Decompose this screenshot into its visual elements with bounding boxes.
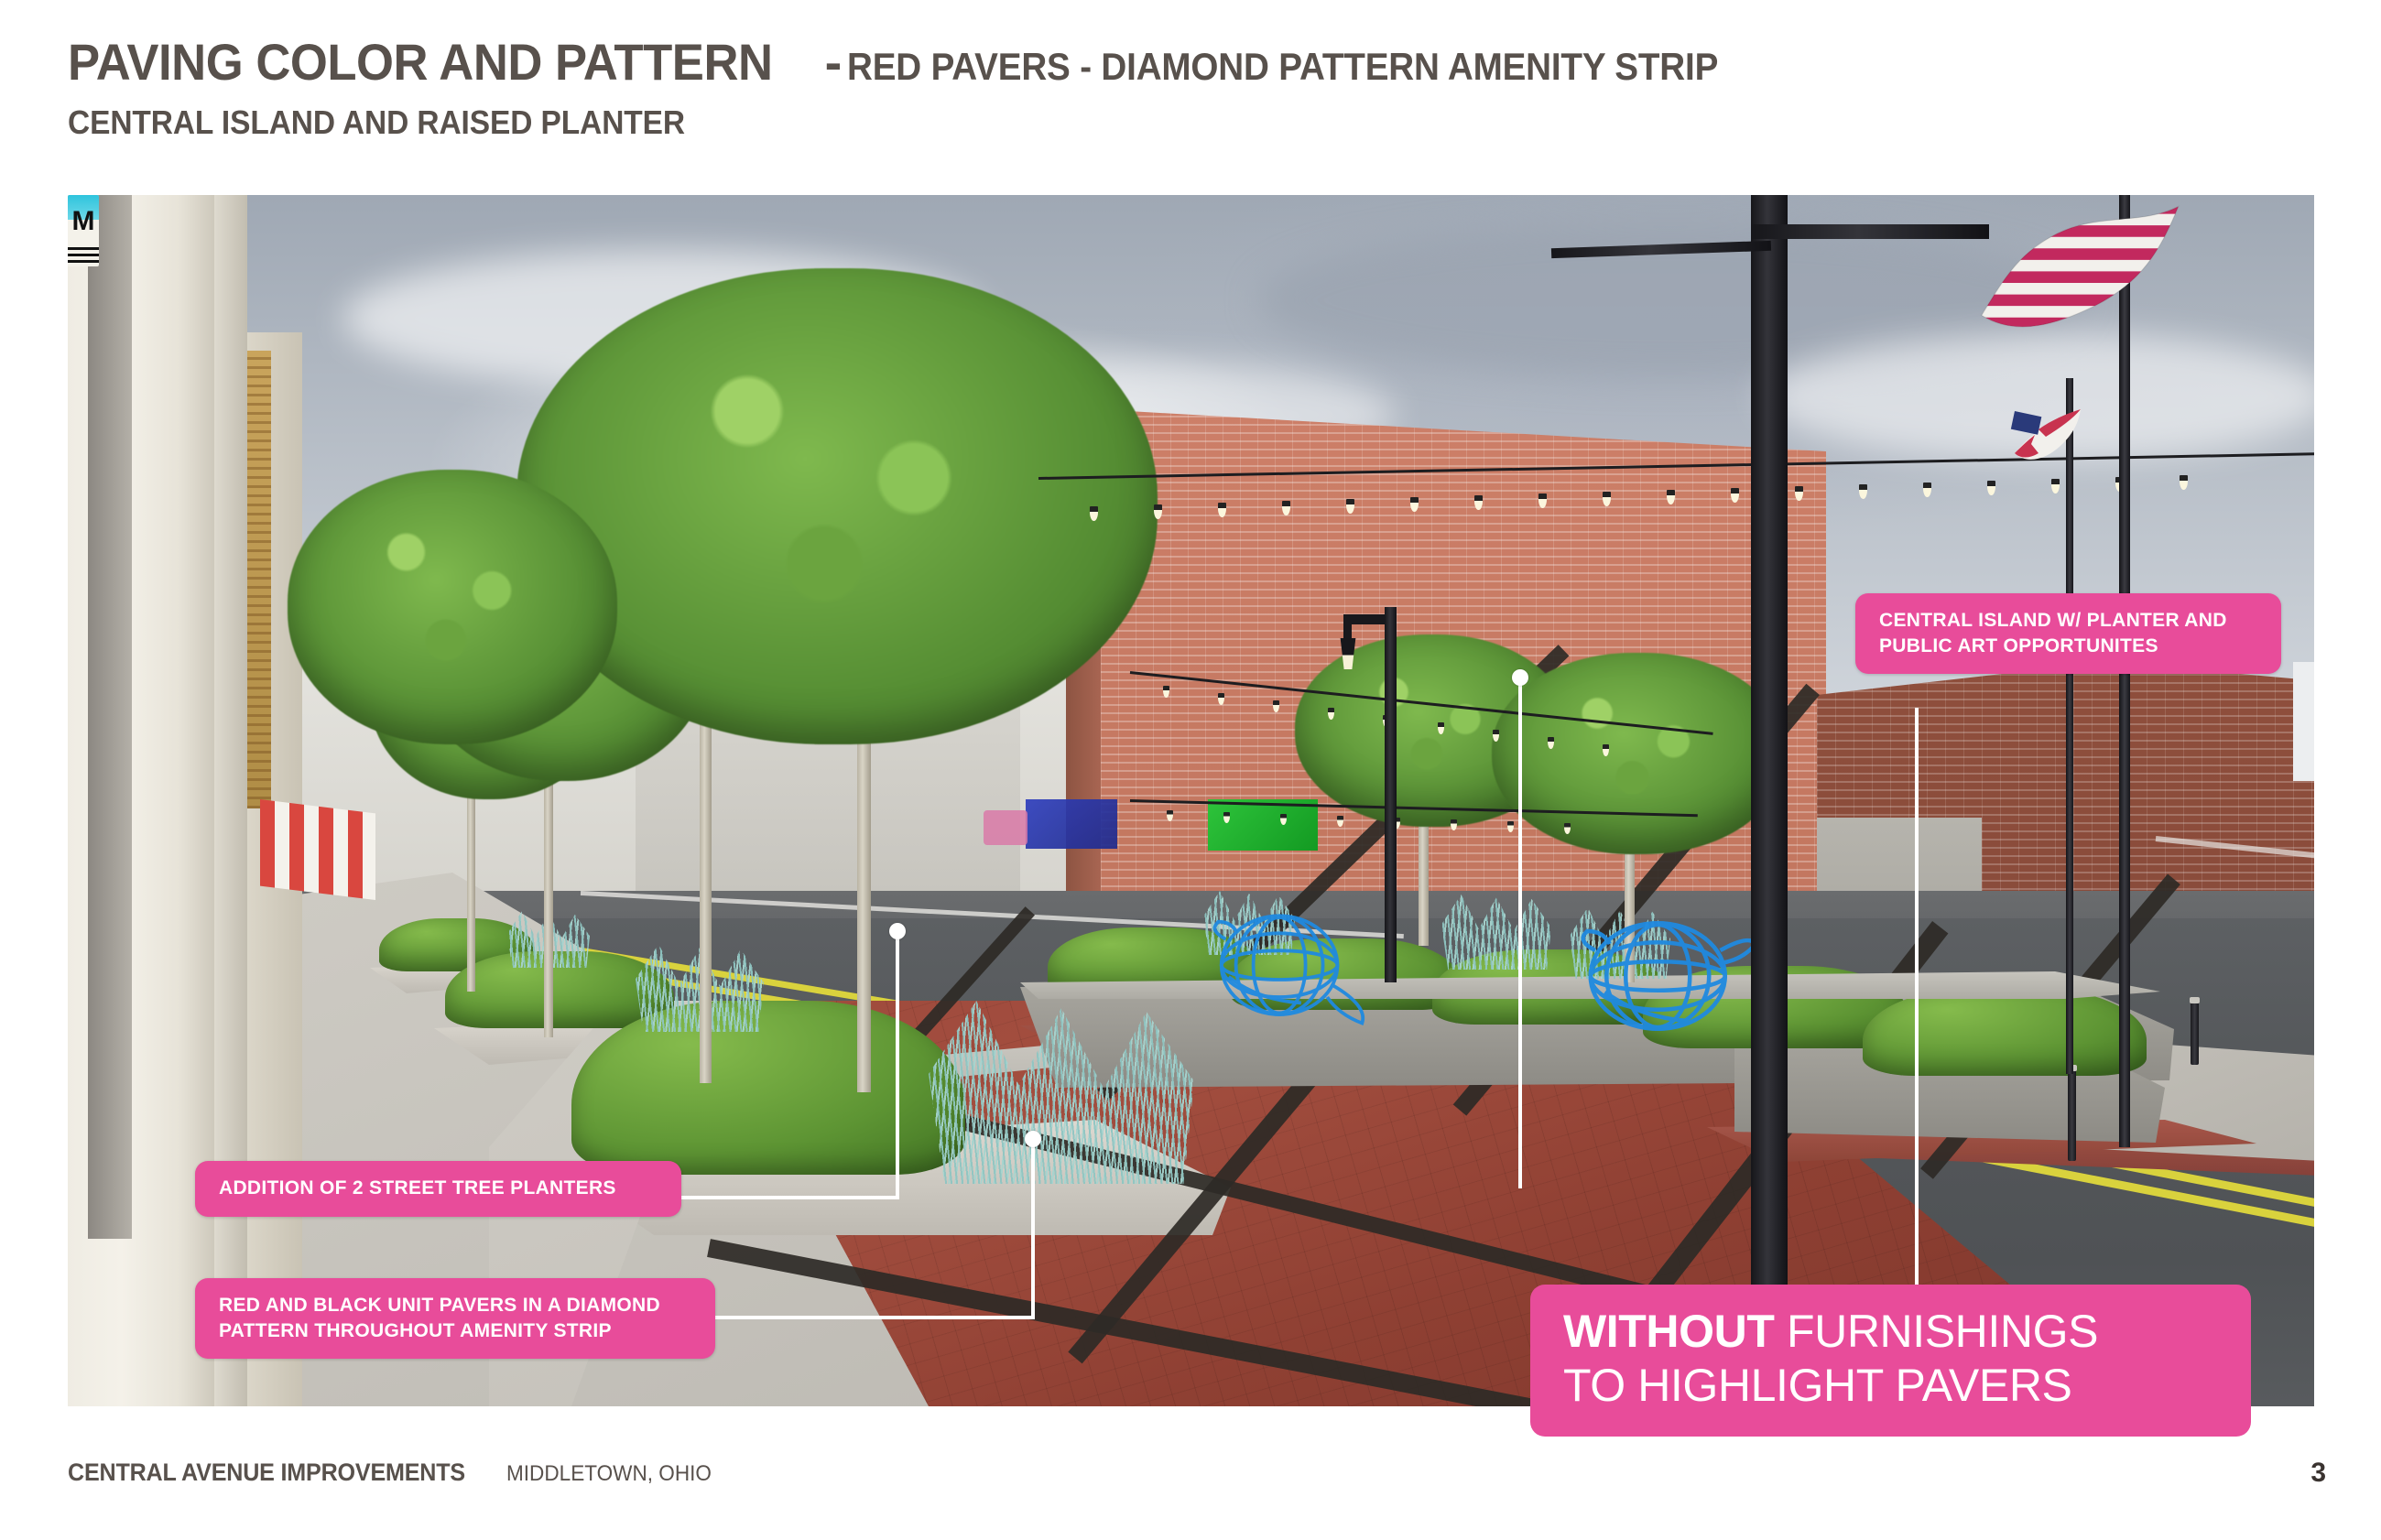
bollard (2191, 1001, 2199, 1065)
left-brick-detail (247, 351, 271, 808)
banner-line-1: WITHOUT FURNISHINGS (1563, 1305, 2218, 1359)
title-separator: - (825, 37, 843, 88)
foreground-light-pole (1751, 195, 1788, 1406)
street-lamp-pole (1385, 607, 1397, 982)
callout-street-tree-planters[interactable]: ADDITION OF 2 STREET TREE PLANTERS (195, 1161, 681, 1217)
leader-line-tree-planter-v (896, 927, 899, 1199)
bollard-cap (2190, 997, 2200, 1003)
banner-line-1-rest: FURNISHINGS (1774, 1306, 2098, 1357)
page-title: PAVING COLOR AND PATTERN (68, 37, 773, 88)
american-flag-large (1973, 202, 2183, 349)
ornamental-grass (929, 1001, 1194, 1184)
street-lamp-arm-drop (1343, 614, 1352, 642)
tree-canopy (288, 470, 617, 744)
page-number: 3 (2310, 1458, 2326, 1489)
leader-dot-island-planter (1512, 669, 1528, 686)
leader-dot-tree-planter (889, 923, 906, 939)
slide-header: PAVING COLOR AND PATTERN - RED PAVERS - … (68, 37, 2311, 142)
rendering-image: M (68, 195, 2314, 1406)
slide-canvas: PAVING COLOR AND PATTERN - RED PAVERS - … (0, 0, 2381, 1540)
tree-canopy (516, 268, 1158, 744)
tree-canopy (1492, 653, 1785, 854)
footer-project-name: CENTRAL AVENUE IMPROVEMENTS (68, 1459, 465, 1487)
bird-sculpture (1570, 893, 1762, 1053)
flag-pole-small (2066, 378, 2073, 1074)
green-awning (1208, 799, 1318, 851)
city-pole-banner: M (68, 195, 99, 266)
planter-hedge (571, 1001, 965, 1175)
banner-wave-graphic (68, 246, 99, 263)
leader-line-paver-v (1031, 1136, 1035, 1319)
bird-sculpture (1200, 889, 1374, 1036)
title-row: PAVING COLOR AND PATTERN - RED PAVERS - … (68, 37, 2311, 88)
without-furnishings-banner: WITHOUT FURNISHINGS TO HIGHLIGHT PAVERS (1530, 1285, 2251, 1437)
banner-line-1-bold: WITHOUT (1563, 1306, 1774, 1357)
ornamental-grass (1441, 895, 1551, 970)
page-title-second-line: CENTRAL ISLAND AND RAISED PLANTER (68, 103, 2155, 142)
banner-line-2: TO HIGHLIGHT PAVERS (1563, 1359, 2218, 1413)
callout-central-island[interactable]: CENTRAL ISLAND W/ PLANTER AND PUBLIC ART… (1855, 593, 2281, 674)
banner-letter-m: M (68, 211, 99, 251)
foreground-pole-arm (1751, 224, 1989, 239)
blue-awning (1026, 799, 1117, 849)
american-flag-small (1995, 404, 2086, 477)
island-hedge (1863, 988, 2147, 1076)
leader-line-island-planter (1518, 676, 1522, 1188)
left-building-edge (214, 195, 247, 1406)
leader-dot-paver (1025, 1131, 1041, 1147)
left-building-shadow (88, 195, 132, 1239)
slide-footer: CENTRAL AVENUE IMPROVEMENTS MIDDLETOWN, … (68, 1459, 724, 1487)
callout-unit-pavers[interactable]: RED AND BLACK UNIT PAVERS IN A DIAMOND P… (195, 1278, 715, 1359)
pink-awning (984, 810, 1027, 845)
bollard (2068, 1069, 2076, 1161)
footer-location: MIDDLETOWN, OHIO (506, 1461, 712, 1487)
page-subtitle: RED PAVERS - DIAMOND PATTERN AMENITY STR… (847, 48, 1718, 86)
red-white-striped-awning (260, 799, 375, 900)
sky-gap-right (2293, 662, 2314, 781)
